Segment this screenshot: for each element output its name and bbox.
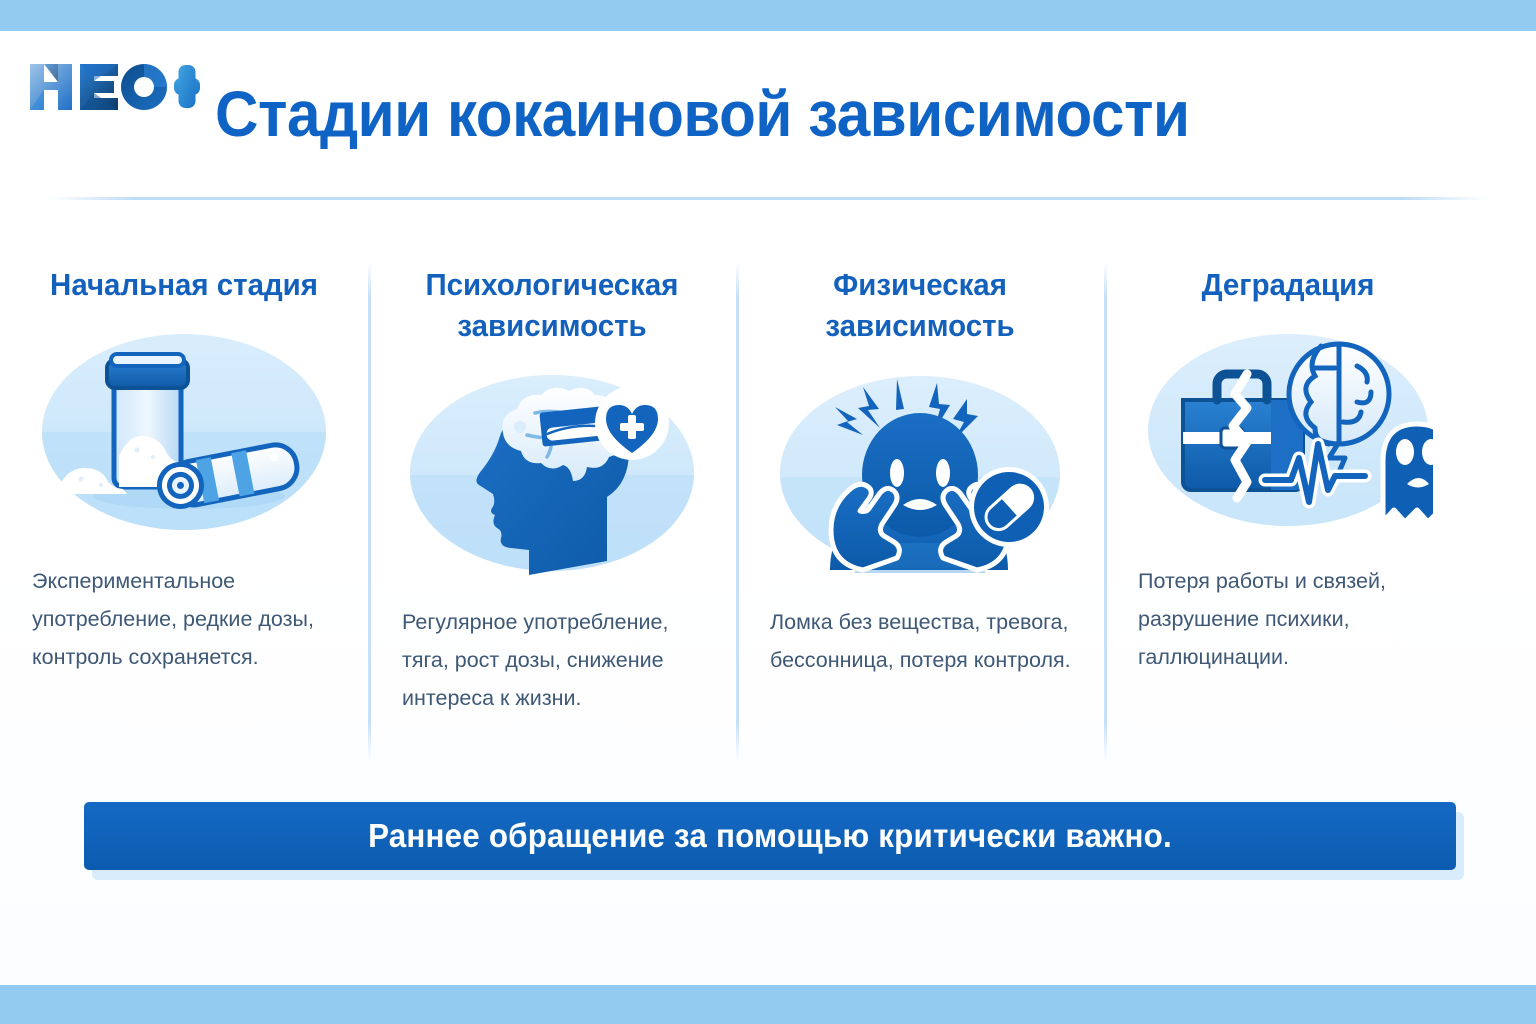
stage-body-1: Экспериментальное употребление, редкие д… — [28, 562, 340, 676]
stage-column-1: Начальная стадия — [0, 250, 368, 770]
neo-plus-logo — [26, 56, 201, 118]
powder-jar-and-rolled-bill-icon — [39, 324, 329, 539]
stage-title-2: Психологическая зависимость — [404, 264, 700, 346]
bottom-accent-band — [0, 985, 1536, 1024]
stage-title-1: Начальная стадия — [36, 264, 332, 305]
stage-body-2: Регулярное употребление, тяга, рост дозы… — [396, 603, 708, 717]
stage-body-3: Ломка без вещества, тревога, бессонница,… — [764, 603, 1076, 679]
stage-column-4: Деградация — [1104, 250, 1472, 770]
stage-body-4: Потеря работы и связей, разрушение психи… — [1132, 562, 1444, 676]
infographic-poster: Стадии кокаиновой зависимости Начальная … — [0, 0, 1536, 1024]
call-to-action-banner: Раннее обращение за помощью критически в… — [84, 802, 1456, 870]
stage-icon-3 — [764, 360, 1076, 585]
head-brain-heart-plus-icon — [407, 365, 697, 580]
stage-icon-1 — [28, 319, 340, 544]
broken-briefcase-brain-ghost-icon — [1143, 324, 1433, 539]
stages-row: Начальная стадия — [0, 250, 1536, 770]
stage-icon-2 — [396, 360, 708, 585]
banner-text: Раннее обращение за помощью критически в… — [118, 817, 1421, 855]
page-title: Стадии кокаиновой зависимости — [215, 77, 1428, 151]
title-divider — [50, 197, 1487, 200]
stage-title-3: Физическая зависимость — [772, 264, 1068, 346]
stage-title-4: Деградация — [1140, 264, 1436, 305]
stage-column-3: Физическая зависимость — [736, 250, 1104, 770]
stage-icon-4 — [1132, 319, 1444, 544]
stage-column-2: Психологическая зависимость — [368, 250, 736, 770]
top-accent-band — [0, 0, 1536, 31]
headache-person-pill-icon — [775, 365, 1065, 580]
logo-mark-icon — [26, 56, 201, 118]
